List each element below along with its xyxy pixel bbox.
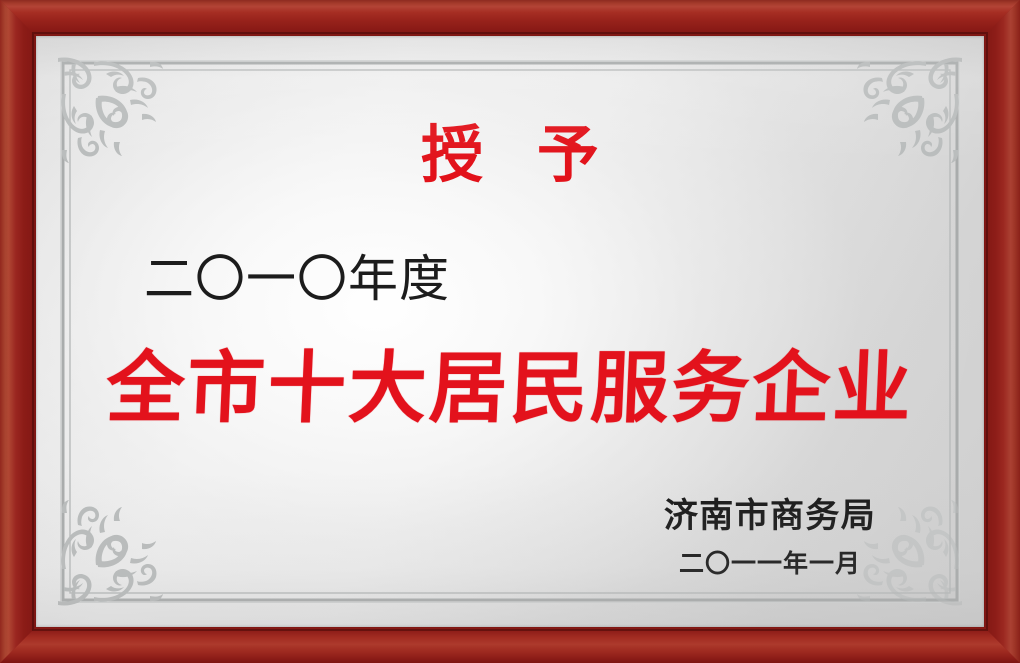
- issuer-organization: 济南市商务局: [640, 496, 900, 537]
- plaque-panel: 授 予 二〇一〇年度 全市十大居民服务企业 济南市商务局 二〇一一年一月: [36, 36, 984, 627]
- issue-date: 二〇一一年一月: [640, 549, 900, 579]
- frame-rail-right: [984, 0, 1020, 663]
- award-plaque: 授 予 二〇一〇年度 全市十大居民服务企业 济南市商务局 二〇一一年一月: [0, 0, 1020, 663]
- issuer-signature-block: 济南市商务局 二〇一一年一月: [640, 496, 900, 579]
- frame-rail-top: [0, 0, 1020, 36]
- frame-rail-bottom: [0, 627, 1020, 663]
- award-verb-line: 授 予: [36, 124, 984, 186]
- award-year-line: 二〇一〇年度: [144, 254, 450, 304]
- plaque-inscription: 授 予 二〇一〇年度 全市十大居民服务企业 济南市商务局 二〇一一年一月: [36, 36, 984, 627]
- frame-rail-left: [0, 0, 36, 663]
- award-title: 全市十大居民服务企业: [36, 346, 984, 432]
